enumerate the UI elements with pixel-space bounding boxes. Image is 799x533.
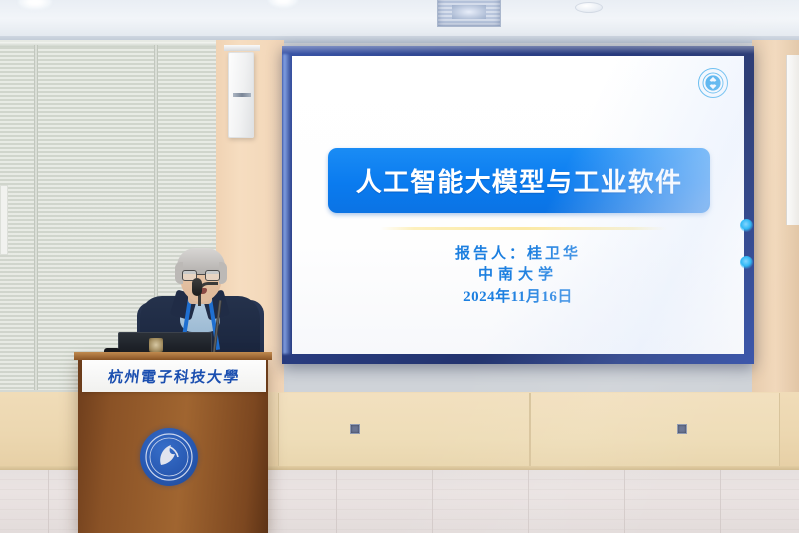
glasses-bridge [197, 274, 205, 275]
podium-top-surface [74, 352, 272, 360]
speaker-brand-badge [233, 93, 251, 97]
podium-banner-text: 杭州電子科技大學 [107, 366, 242, 387]
slide-divider [380, 227, 667, 230]
podium-banner: 杭州電子科技大學 [82, 360, 266, 392]
wall-outlet-icon [350, 424, 360, 434]
wall-panel [278, 393, 530, 469]
screen-status-led-icon [740, 219, 753, 232]
slide-subtitle-block: 报告人：桂卫华 中南大学 2024年11月16日 [292, 244, 744, 308]
screen-edge-glow [283, 54, 291, 354]
slide-presenter-line: 报告人：桂卫华 [292, 244, 744, 265]
central-south-university-logo-icon [698, 68, 728, 98]
wall-frame [0, 185, 8, 255]
wall-panel [530, 393, 780, 469]
blind-seam [34, 45, 38, 390]
slide-affiliation: 中南大学 [292, 265, 744, 286]
lecture-hall-photo: 人工智能大模型与工业软件 报告人：桂卫华 中南大学 2024年11月16日 [0, 0, 799, 533]
blind-rail [0, 42, 220, 47]
right-door-edge [786, 55, 799, 225]
ceiling-dome-light-icon [575, 2, 603, 13]
slide-title-banner: 人工智能大模型与工业软件 [328, 148, 710, 213]
wall-outlet-icon [677, 424, 687, 434]
hangzhou-dianzi-university-emblem-icon [140, 428, 198, 486]
microphone-icon [192, 278, 202, 296]
speaker-bracket [224, 45, 260, 51]
slide-date: 2024年11月16日 [292, 287, 744, 308]
laptop-sticker-icon [149, 338, 163, 352]
presentation-slide[interactable]: 人工智能大模型与工业软件 报告人：桂卫华 中南大学 2024年11月16日 [292, 56, 744, 354]
slide-title: 人工智能大模型与工业软件 [356, 162, 682, 199]
glasses-lens [205, 270, 220, 281]
presenter-hair-side [219, 262, 227, 284]
screen-status-led-icon [740, 256, 753, 269]
wall-mounted-speaker-icon [228, 52, 254, 138]
air-conditioning-vent-icon [437, 0, 501, 27]
